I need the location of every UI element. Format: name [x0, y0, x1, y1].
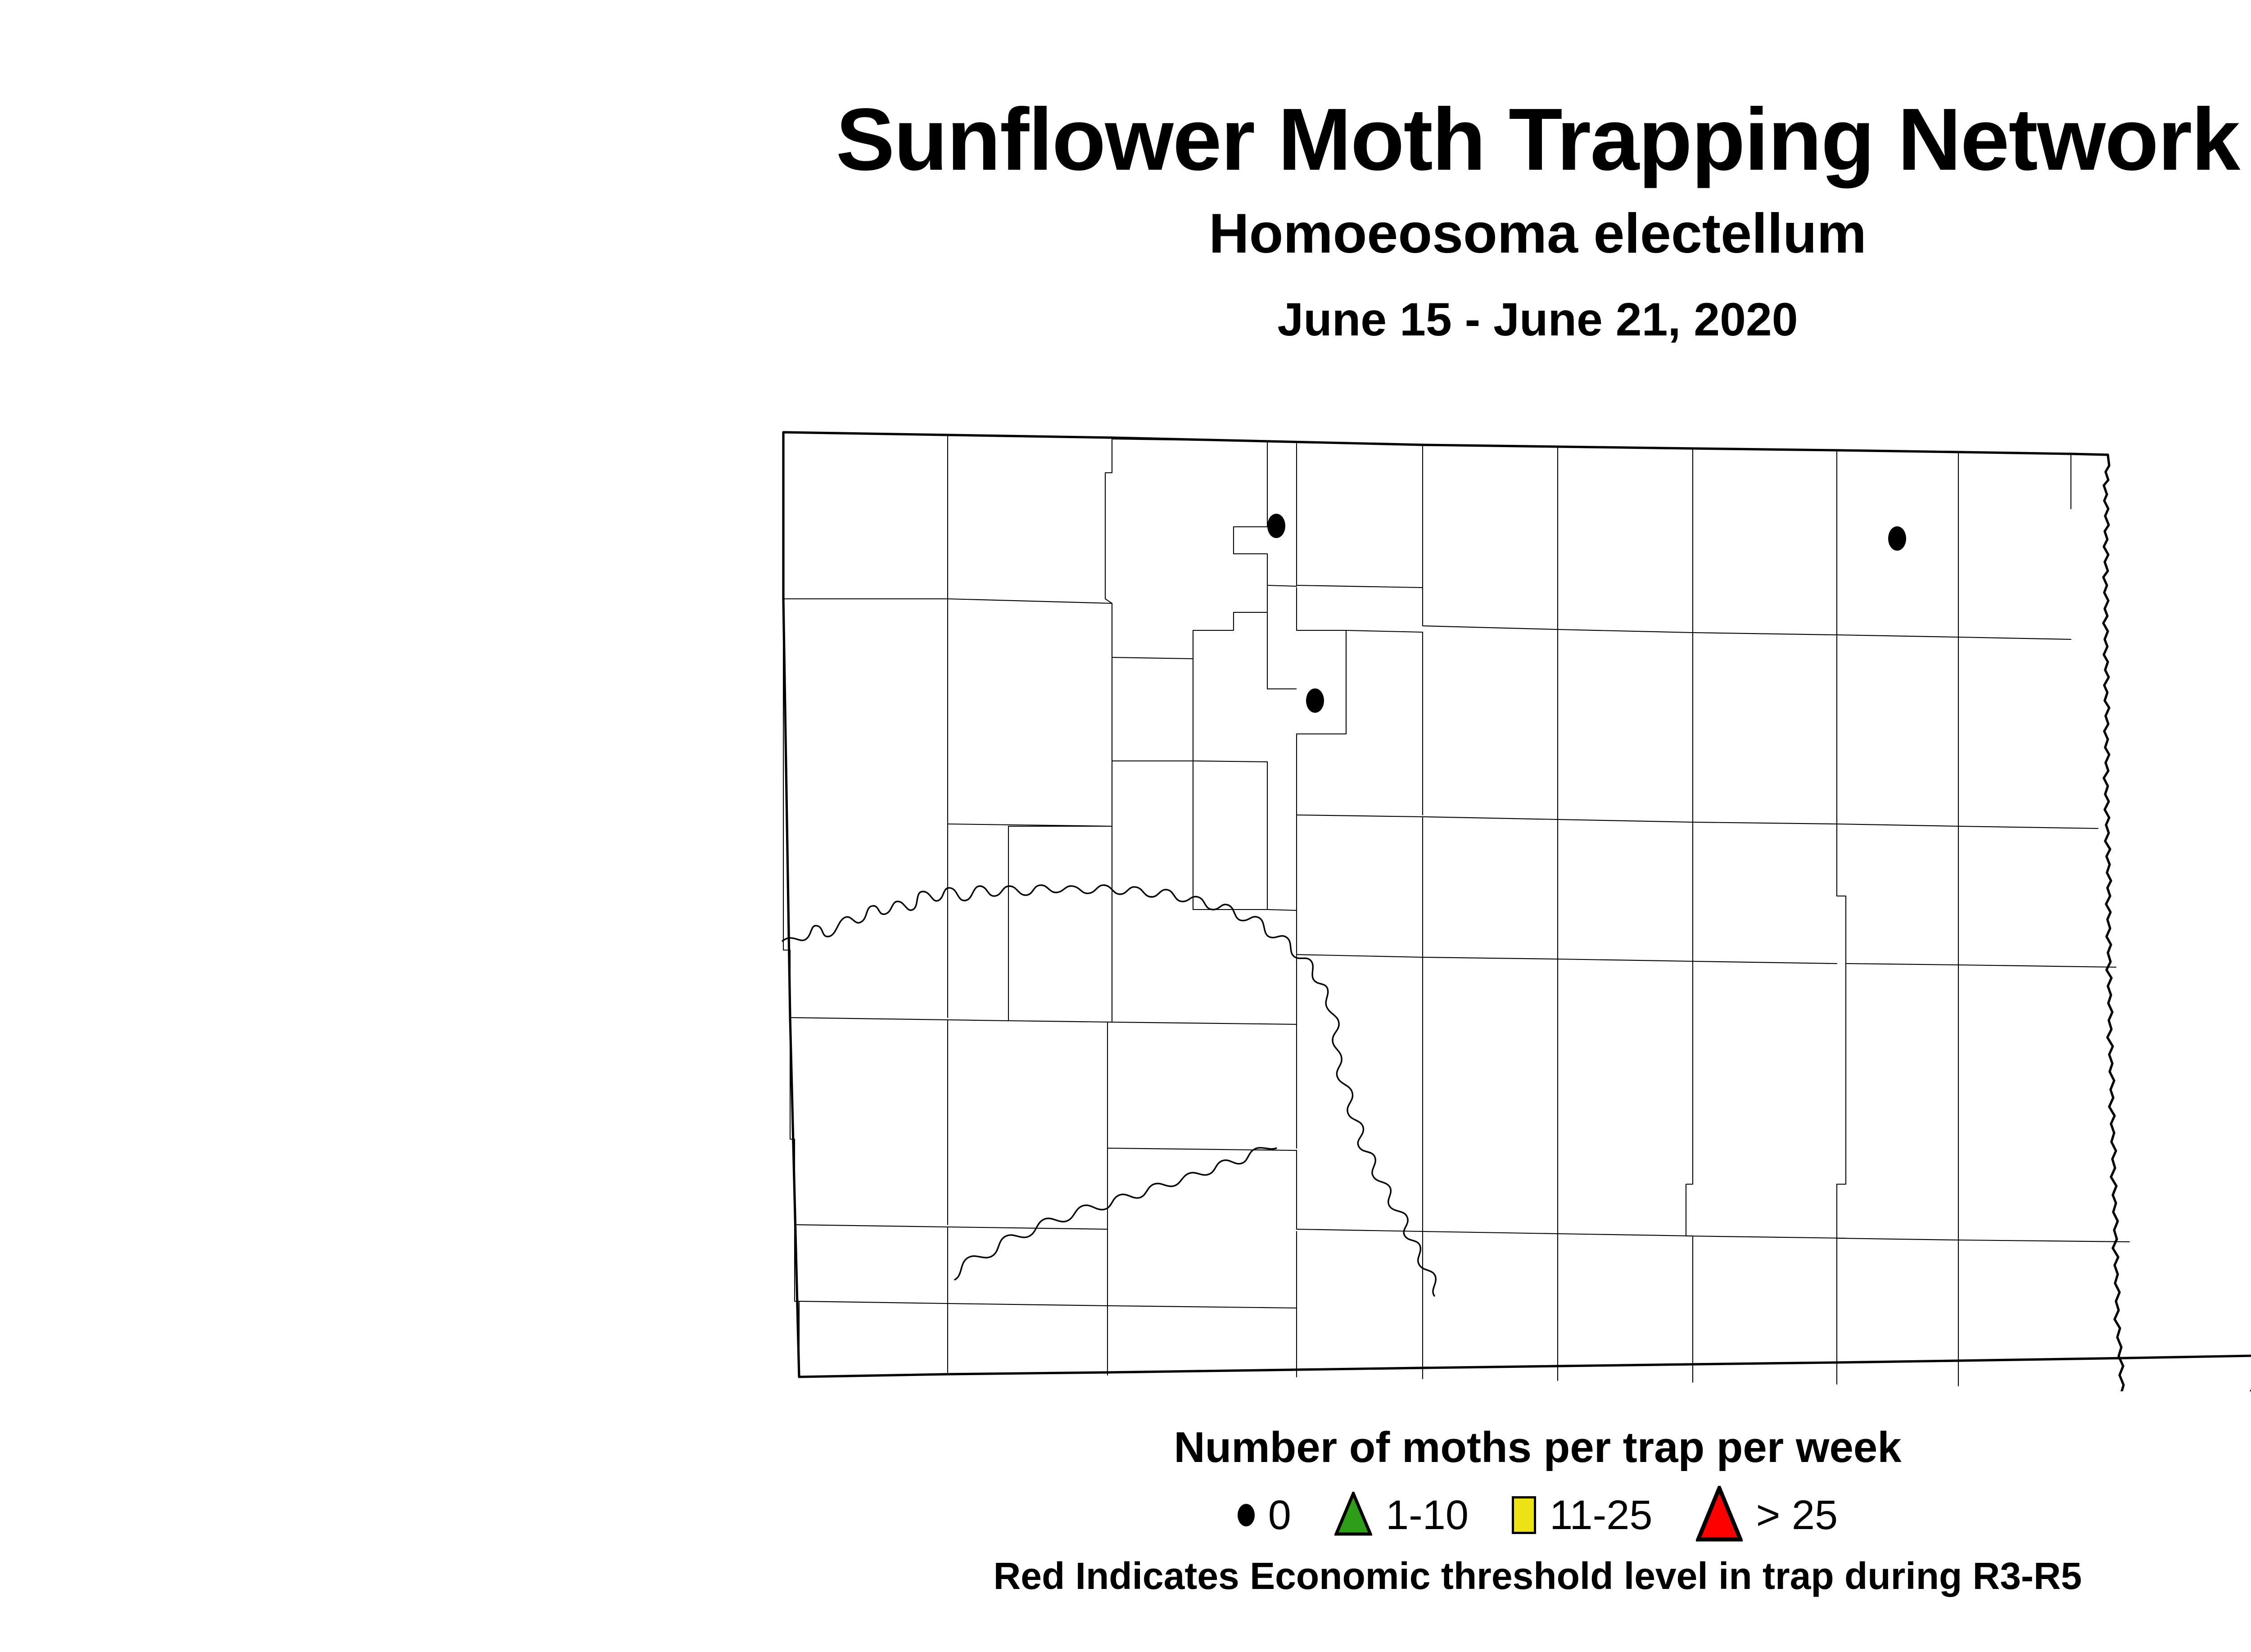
- county-boundaries: [783, 432, 2129, 1386]
- legend-item-zero[interactable]: 0: [1238, 1494, 1291, 1536]
- legend-item-over-25[interactable]: > 25: [1696, 1486, 1838, 1544]
- species-name: Homoeosoma electellum: [0, 204, 2251, 263]
- green-triangle-icon: [1334, 1492, 1372, 1538]
- south-river-segment: [955, 1148, 1276, 1280]
- legend-label-over-25: > 25: [1756, 1494, 1838, 1536]
- red-triangle-icon: [1696, 1486, 1743, 1544]
- trap-site-marker: [1888, 526, 1906, 551]
- black-dot-icon: [1238, 1504, 1255, 1526]
- trap-site-marker: [1306, 688, 1324, 713]
- missouri-river: [782, 885, 1436, 1296]
- title-block: Sunflower Moth Trapping Network Homoeoso…: [0, 95, 2251, 344]
- legend-item-1-10[interactable]: 1-10: [1334, 1492, 1469, 1538]
- page-root: Sunflower Moth Trapping Network Homoeoso…: [0, 0, 2251, 1652]
- page-title: Sunflower Moth Trapping Network: [0, 95, 2251, 185]
- legend-label-zero: 0: [1268, 1494, 1291, 1536]
- trap-site-marker: [1267, 514, 1285, 538]
- yellow-square-icon: [1512, 1496, 1536, 1534]
- trap-site-markers: [1267, 514, 1906, 713]
- state-outline: [783, 432, 2251, 1391]
- legend-label-11-25: 11-25: [1550, 1494, 1652, 1536]
- legend-title: Number of moths per trap per week: [0, 1423, 2251, 1472]
- legend-item-11-25[interactable]: 11-25: [1512, 1494, 1652, 1536]
- legend-footnote: Red Indicates Economic threshold level i…: [0, 1554, 2251, 1598]
- legend-label-1-10: 1-10: [1386, 1494, 1469, 1536]
- date-range: June 15 - June 21, 2020: [0, 295, 2251, 344]
- north-dakota-county-map[interactable]: [702, 419, 2251, 1391]
- legend: 0 1-10 11-25 > 25: [0, 1486, 2251, 1544]
